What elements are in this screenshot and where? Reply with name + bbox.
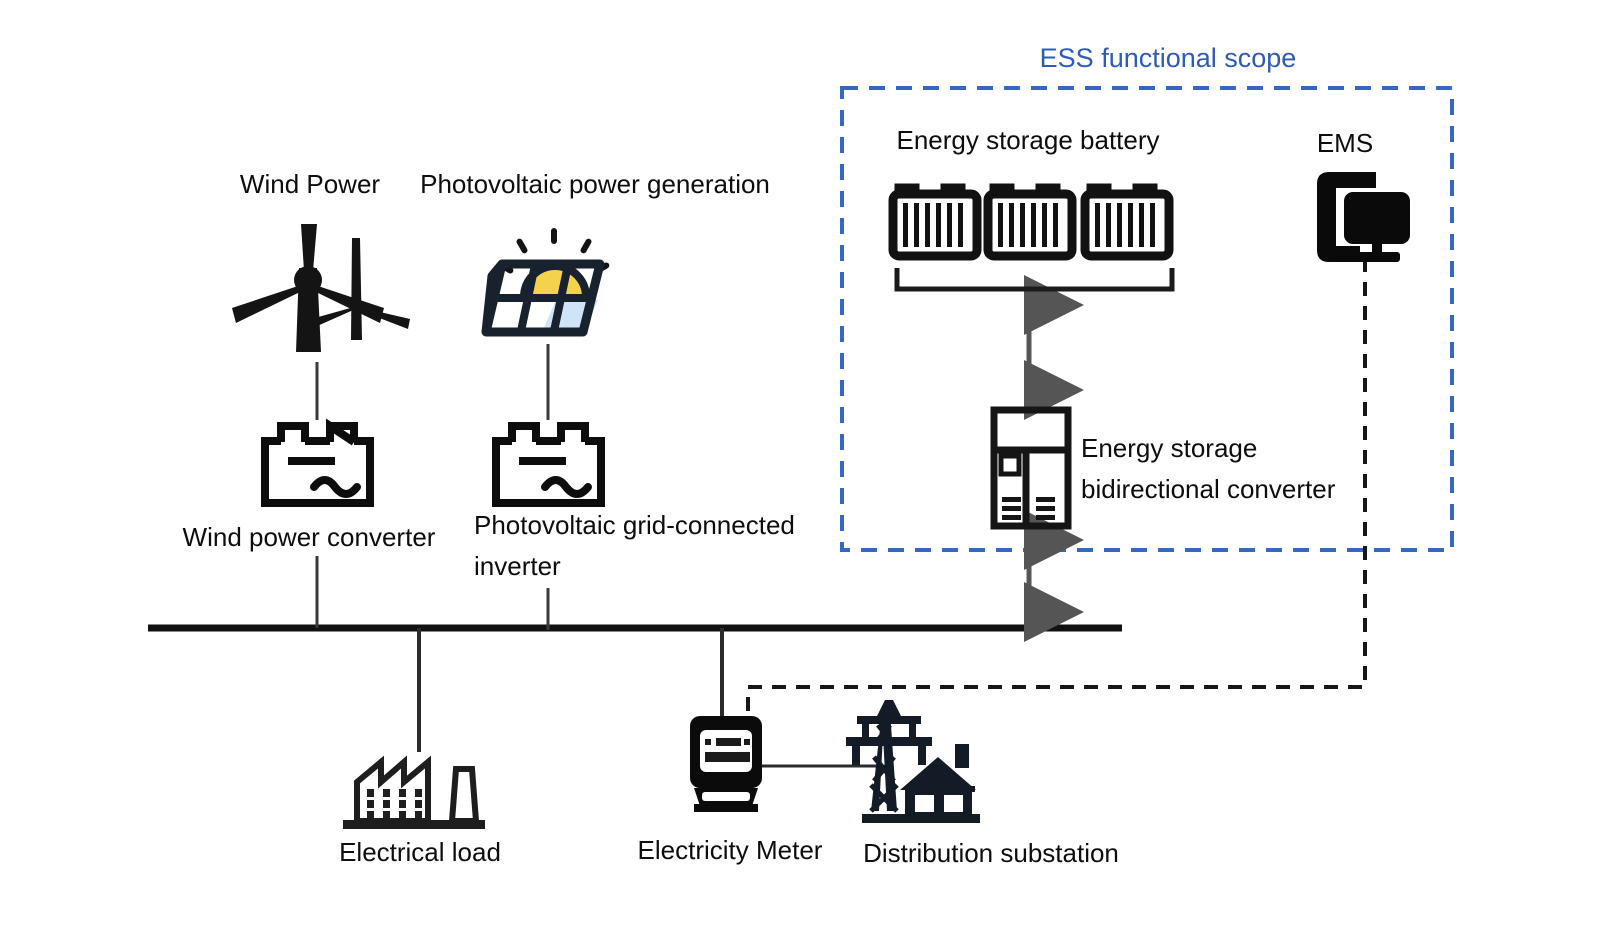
- pylon-house-icon: [846, 700, 980, 823]
- battery-label: Energy storage battery: [896, 120, 1159, 160]
- distribution-substation-label: Distribution substation: [863, 833, 1119, 873]
- factory-icon: [343, 762, 485, 829]
- pv-inverter-icon: [496, 426, 601, 503]
- electricity-meter-label: Electricity Meter: [638, 830, 823, 870]
- electrical-load-label: Electrical load: [339, 832, 501, 872]
- wind-turbine-icon: [232, 224, 410, 352]
- meter-icon: [690, 716, 762, 812]
- battery-pack-bracket: [897, 268, 1172, 289]
- ess-scope-label: ESS functional scope: [1040, 38, 1297, 78]
- converter-cabinet-icon: [994, 410, 1068, 526]
- solar-panel-icon: [486, 228, 610, 332]
- pv-inverter-label-line1: Photovoltaic grid-connected: [474, 505, 795, 545]
- wind-power-label: Wind Power: [240, 164, 380, 204]
- battery-icon: [1085, 188, 1169, 256]
- pv-inverter-label-line2: inverter: [474, 546, 561, 586]
- pv-generation-label: Photovoltaic power generation: [420, 164, 770, 204]
- ems-label: EMS: [1317, 123, 1373, 163]
- battery-icon: [893, 188, 977, 256]
- computer-monitor-icon: [1317, 172, 1410, 262]
- wind-converter-icon: [265, 426, 370, 503]
- wind-converter-label: Wind power converter: [183, 517, 436, 557]
- battery-icon: [988, 188, 1072, 256]
- battery-icon-group: [893, 188, 1169, 256]
- bidirectional-converter-label-line1: Energy storage: [1081, 428, 1257, 468]
- bidirectional-converter-label-line2: bidirectional converter: [1081, 469, 1335, 509]
- diagram-canvas: ESS functional scope Energy storage batt…: [0, 0, 1599, 926]
